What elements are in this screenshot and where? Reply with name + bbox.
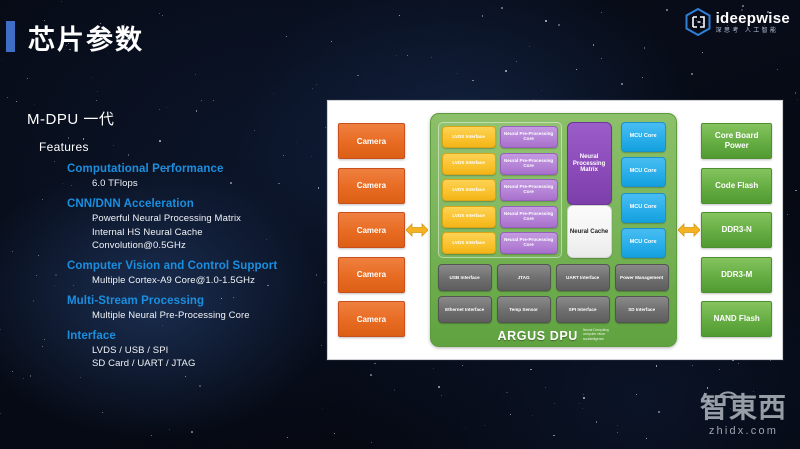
- camera-block: Camera: [338, 123, 405, 159]
- mcu-column: MCU CoreMCU CoreMCU CoreMCU Core: [621, 122, 666, 258]
- peripherals-area: USB InterfaceJTAGUART InterfacePower Man…: [438, 264, 669, 323]
- memory-block: Code Flash: [701, 168, 772, 204]
- features-label: Features: [39, 140, 317, 154]
- peripheral-block: Temp Sensor: [497, 296, 551, 323]
- memory-block: DDR3-N: [701, 212, 772, 248]
- soc-footer: ARGUS DPU Neural Computingcomputer visio…: [438, 328, 669, 343]
- feature-heading: Multi-Stream Processing: [67, 295, 317, 307]
- feature-group: Multi-Stream ProcessingMultiple Neural P…: [67, 295, 317, 323]
- memory-block: NAND Flash: [701, 301, 772, 337]
- lvds-interface-block: LVDS Interface: [442, 206, 496, 228]
- feature-heading: Computational Performance: [67, 163, 317, 175]
- feature-item: LVDS / USB / SPI: [92, 344, 317, 358]
- peripheral-row-1: USB InterfaceJTAGUART InterfacePower Man…: [438, 264, 669, 291]
- mcu-core-block: MCU Core: [621, 193, 666, 223]
- feature-group: CNN/DNN AccelerationPowerful Neural Proc…: [67, 198, 317, 253]
- soc-argus-dpu: LVDS InterfaceLVDS InterfaceLVDS Interfa…: [430, 113, 677, 347]
- peripheral-block: USB Interface: [438, 264, 492, 291]
- title-accent-bar: [6, 21, 15, 52]
- feature-item: 6.0 TFlops: [92, 177, 317, 191]
- lvds-interface-block: LVDS Interface: [442, 232, 496, 254]
- feature-group: InterfaceLVDS / USB / SPISD Card / UART …: [67, 330, 317, 372]
- feature-item: Multiple Neural Pre-Processing Core: [92, 309, 317, 323]
- frontend-group: LVDS InterfaceLVDS InterfaceLVDS Interfa…: [438, 122, 562, 258]
- wifi-icon: [717, 387, 739, 405]
- peripheral-block: JTAG: [497, 264, 551, 291]
- peripheral-row-2: Ethernet InterfaceTemp SensorSPI Interfa…: [438, 296, 669, 323]
- mcu-core-block: MCU Core: [621, 122, 666, 152]
- peripheral-block: SPI Interface: [556, 296, 610, 323]
- neural-preprocessing-core-block: Neural Pre-Processing Core: [500, 232, 558, 254]
- lvds-interface-block: LVDS Interface: [442, 153, 496, 175]
- hexagon-logo-icon: [685, 8, 711, 36]
- feature-group: Computer Vision and Control SupportMulti…: [67, 260, 317, 288]
- neural-preprocessing-core-block: Neural Pre-Processing Core: [500, 153, 558, 175]
- feature-heading: Computer Vision and Control Support: [67, 260, 317, 272]
- neural-preprocessing-core-block: Neural Pre-Processing Core: [500, 179, 558, 201]
- camera-block: Camera: [338, 257, 405, 293]
- feature-heading: CNN/DNN Acceleration: [67, 198, 317, 210]
- peripheral-block: SD Interface: [615, 296, 669, 323]
- chip-tagline: Neural Computingcomputer visionsocintell…: [583, 328, 609, 341]
- watermark: 智東西 zhidx.com: [700, 394, 787, 437]
- neural-preprocessing-core-block: Neural Pre-Processing Core: [500, 206, 558, 228]
- memory-block: Core Board Power: [701, 123, 772, 159]
- chip-name: ARGUS DPU: [498, 329, 578, 343]
- peripheral-block: Power Management: [615, 264, 669, 291]
- page-title: 芯片参数: [28, 18, 144, 57]
- features-list: M-DPU 一代 Features Computational Performa…: [27, 108, 317, 378]
- brand-logo: ideepwise 深思考 人工智能: [685, 8, 790, 36]
- camera-column: CameraCameraCameraCameraCamera: [338, 123, 405, 337]
- camera-block: Camera: [338, 301, 405, 337]
- feature-group: Computational Performance6.0 TFlops: [67, 163, 317, 191]
- feature-item: Convolution@0.5GHz: [92, 239, 317, 253]
- lvds-column: LVDS InterfaceLVDS InterfaceLVDS Interfa…: [442, 126, 496, 254]
- camera-block: Camera: [338, 168, 405, 204]
- feature-item: Multiple Cortex-A9 Core@1.0-1.5GHz: [92, 274, 317, 288]
- neural-processing-matrix-block: Neural Processing Matrix: [567, 122, 612, 205]
- feature-item: Internal HS Neural Cache: [92, 226, 317, 240]
- right-double-arrow-icon: [677, 222, 702, 238]
- product-name: M-DPU 一代: [27, 108, 317, 129]
- lvds-interface-block: LVDS Interface: [442, 126, 496, 148]
- watermark-en: zhidx.com: [700, 425, 787, 437]
- logo-subtitle: 深思考 人工智能: [716, 28, 790, 34]
- mcu-core-block: MCU Core: [621, 157, 666, 187]
- feature-item: SD Card / UART / JTAG: [92, 357, 317, 371]
- camera-block: Camera: [338, 212, 405, 248]
- watermark-cn: 智東西: [700, 394, 787, 422]
- feature-heading: Interface: [67, 330, 317, 342]
- left-double-arrow-icon: [405, 222, 430, 238]
- neural-preprocessing-core-block: Neural Pre-Processing Core: [500, 126, 558, 148]
- peripheral-block: Ethernet Interface: [438, 296, 492, 323]
- neural-cache-block: Neural Cache: [567, 205, 612, 258]
- memory-column: Core Board PowerCode FlashDDR3-NDDR3-MNA…: [701, 123, 772, 337]
- logo-name: ideepwise: [716, 11, 790, 26]
- block-diagram-panel: CameraCameraCameraCameraCamera LVDS Inte…: [327, 100, 783, 360]
- memory-block: DDR3-M: [701, 257, 772, 293]
- core-column: Neural Processing Matrix Neural Cache: [567, 122, 612, 258]
- preproc-column: Neural Pre-Processing CoreNeural Pre-Pro…: [500, 126, 558, 254]
- feature-item: Powerful Neural Processing Matrix: [92, 212, 317, 226]
- peripheral-block: UART Interface: [556, 264, 610, 291]
- mcu-core-block: MCU Core: [621, 228, 666, 258]
- lvds-interface-block: LVDS Interface: [442, 179, 496, 201]
